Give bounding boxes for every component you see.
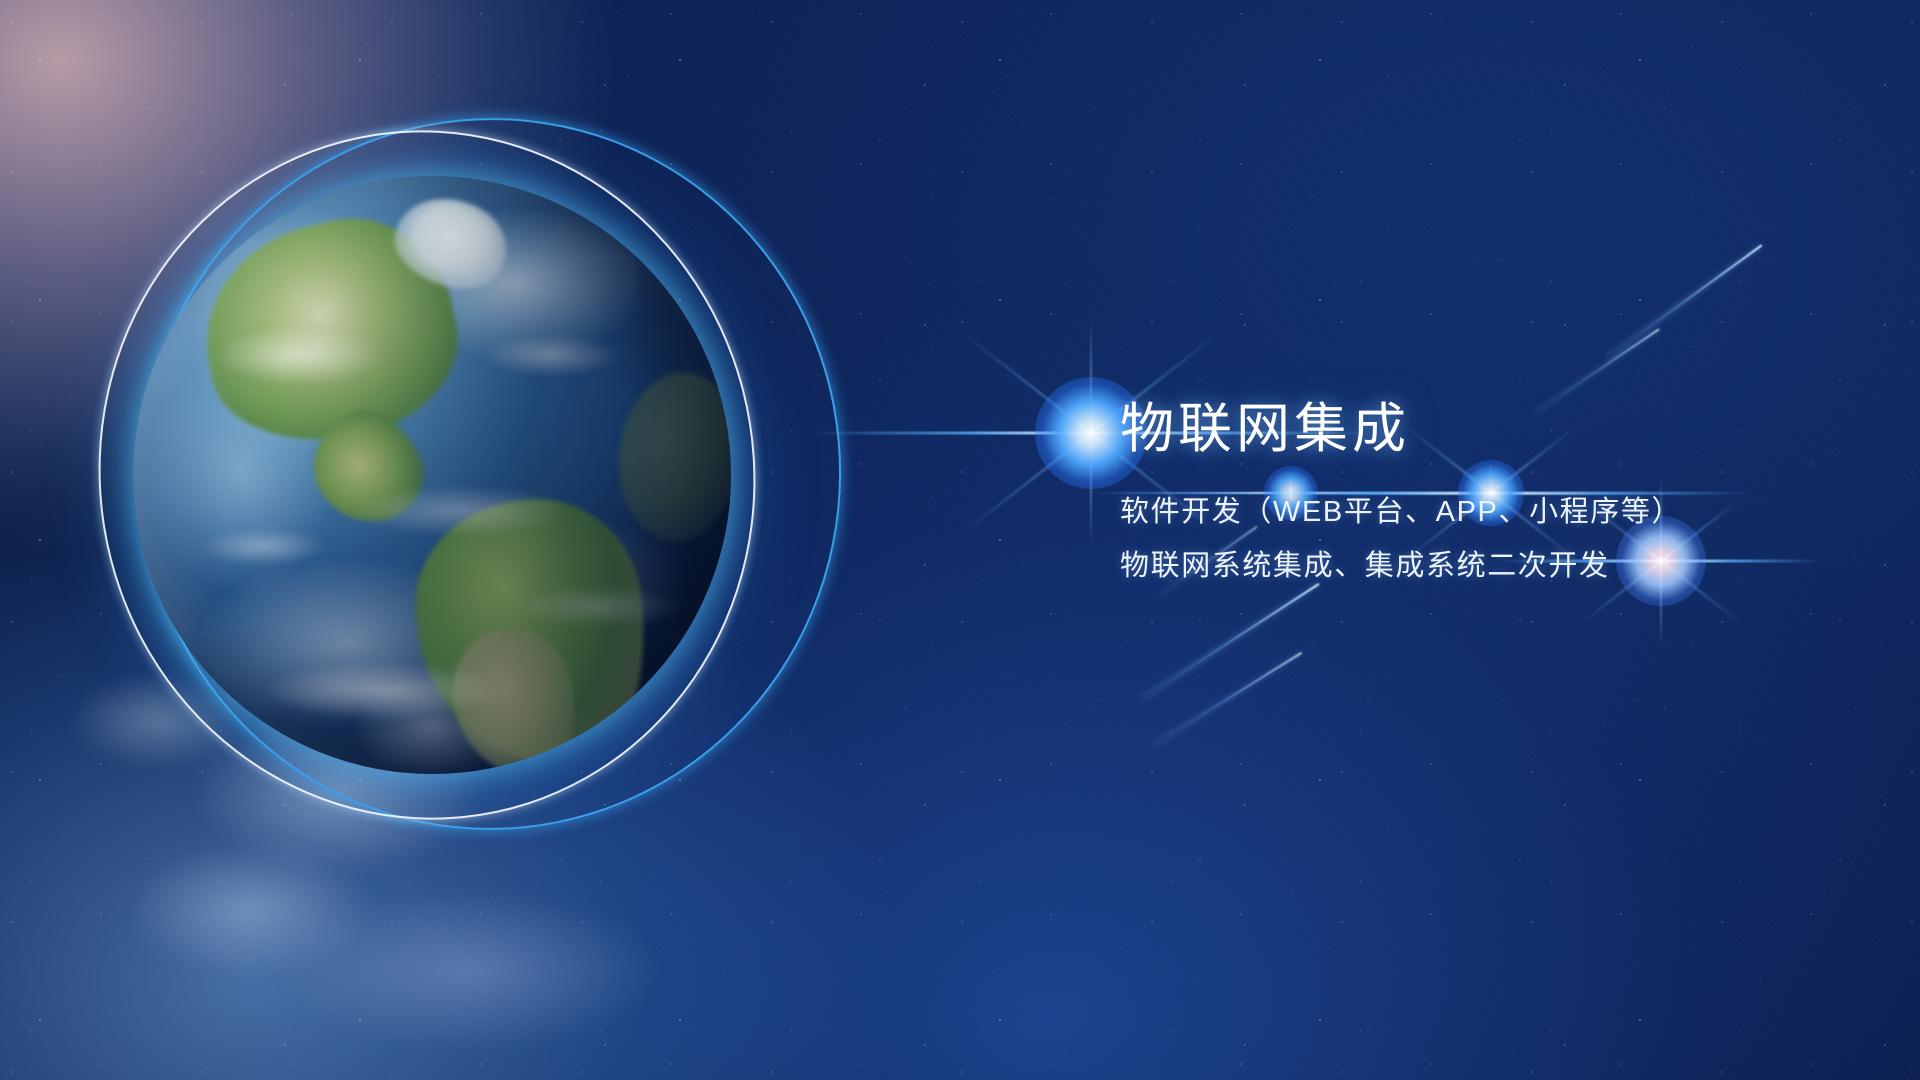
banner-text-block: 物联网集成 软件开发（WEB平台、APP、小程序等） 物联网系统集成、集成系统二… bbox=[1120, 398, 1880, 581]
shooting-star-icon bbox=[1142, 583, 1319, 699]
hero-banner: 物联网集成 软件开发（WEB平台、APP、小程序等） 物联网系统集成、集成系统二… bbox=[0, 0, 1920, 1080]
shooting-star-icon bbox=[1608, 244, 1763, 357]
banner-subline-2: 物联网系统集成、集成系统二次开发 bbox=[1120, 552, 1880, 581]
banner-headline: 物联网集成 bbox=[1120, 398, 1880, 462]
lens-flare-icon bbox=[1090, 432, 1092, 434]
shooting-star-icon bbox=[1153, 652, 1302, 746]
globe-sphere bbox=[133, 176, 731, 774]
banner-subline-1: 软件开发（WEB平台、APP、小程序等） bbox=[1120, 498, 1880, 527]
earth-globe bbox=[103, 148, 757, 802]
